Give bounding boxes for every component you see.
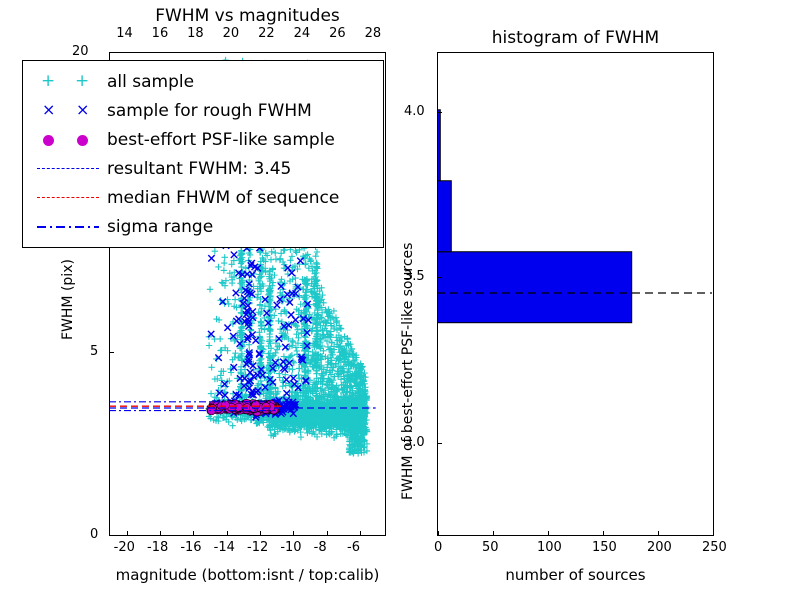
axis-tick (127, 531, 128, 535)
legend-item-label: sample for rough FWHM (107, 101, 312, 121)
left-xtick-label: -12 (247, 540, 268, 555)
left-toptick-label: 18 (187, 26, 204, 41)
left-toptick-label: 28 (365, 26, 382, 41)
axis-tick (438, 277, 442, 278)
plus-marker-icon: ++ (31, 71, 107, 93)
histogram-bar (438, 252, 632, 323)
legend-item: ××sample for rough FWHM (31, 96, 375, 125)
figure-canvas: FWHM vs magnitudes 1416182022242628 20 -… (0, 0, 800, 600)
legend-item-label: median FHWM of sequence (107, 188, 339, 208)
left-ytick-label: 5 (90, 344, 98, 359)
left-xtick-label: -8 (314, 540, 327, 555)
right-xtick-label: 200 (647, 540, 672, 555)
legend-item-label: best-effort PSF-like sample (107, 130, 335, 150)
axis-tick (603, 531, 604, 535)
circle-marker-icon (31, 129, 107, 151)
legend-item: resultant FWHM: 3.45 (31, 154, 375, 183)
left-xtick-label: -16 (180, 540, 201, 555)
right-xtick-label: 50 (482, 540, 499, 555)
right-xtick-label: 250 (702, 540, 727, 555)
dashed-line-icon (31, 187, 107, 209)
legend-item: median FHWM of sequence (31, 183, 375, 212)
dashed-line-icon (31, 158, 107, 180)
legend-item: best-effort PSF-like sample (31, 125, 375, 154)
left-x-axis-label: magnitude (bottom:isnt / top:calib) (90, 566, 405, 584)
axis-tick (110, 535, 114, 536)
left-y-axis-label: FWHM (pix) (60, 259, 76, 340)
left-ytick-label: 0 (90, 527, 98, 542)
axis-tick (548, 531, 549, 535)
right-y-axis-label: FWHM of best-effort PSF-like sources (400, 243, 416, 500)
right-x-axis-label: number of sources (437, 566, 714, 584)
axis-tick (293, 531, 294, 535)
histogram-bar (438, 181, 451, 252)
right-histogram-svg (438, 53, 713, 535)
axis-tick (658, 531, 659, 535)
axis-tick (193, 531, 194, 535)
left-toptick-label: 24 (294, 26, 311, 41)
left-toptick-label: 22 (258, 26, 275, 41)
left-toptick-label: 20 (223, 26, 240, 41)
left-xtick-label: -10 (280, 540, 301, 555)
right-xtick-label: 0 (434, 540, 442, 555)
axis-tick (227, 531, 228, 535)
left-xtick-label: -18 (147, 540, 168, 555)
right-panel-title: histogram of FWHM (437, 28, 714, 48)
right-plot-panel (437, 52, 714, 536)
dashdot-line-icon (31, 216, 107, 238)
legend-item-label: resultant FWHM: 3.45 (107, 159, 291, 179)
axis-tick (438, 531, 439, 535)
axis-tick (438, 112, 442, 113)
left-xtick-label: -20 (114, 540, 135, 555)
left-toptick-label: 26 (329, 26, 346, 41)
legend-box: ++all sample××sample for rough FWHMbest-… (22, 60, 384, 248)
right-xtick-label: 100 (537, 540, 562, 555)
left-panel-title: FWHM vs magnitudes (109, 6, 386, 26)
legend-item-label: sigma range (107, 217, 213, 237)
axis-tick (493, 531, 494, 535)
axis-tick (438, 443, 442, 444)
axis-tick (260, 531, 261, 535)
left-xtick-label: -6 (347, 540, 360, 555)
legend-item: ++all sample (31, 67, 375, 96)
histogram-bar (438, 110, 440, 181)
left-top-corner-label: 20 (72, 44, 89, 59)
axis-tick (110, 352, 114, 353)
axis-tick (360, 531, 361, 535)
left-xtick-label: -14 (214, 540, 235, 555)
left-toptick-label: 16 (152, 26, 169, 41)
axis-tick (327, 531, 328, 535)
legend-item: sigma range (31, 212, 375, 241)
right-xtick-label: 150 (592, 540, 617, 555)
axis-tick (160, 531, 161, 535)
right-ytick-label: 4.0 (404, 104, 425, 119)
legend-item-label: all sample (107, 72, 194, 92)
axis-tick (713, 531, 714, 535)
cross-marker-icon: ×× (31, 100, 107, 122)
left-toptick-label: 14 (116, 26, 133, 41)
